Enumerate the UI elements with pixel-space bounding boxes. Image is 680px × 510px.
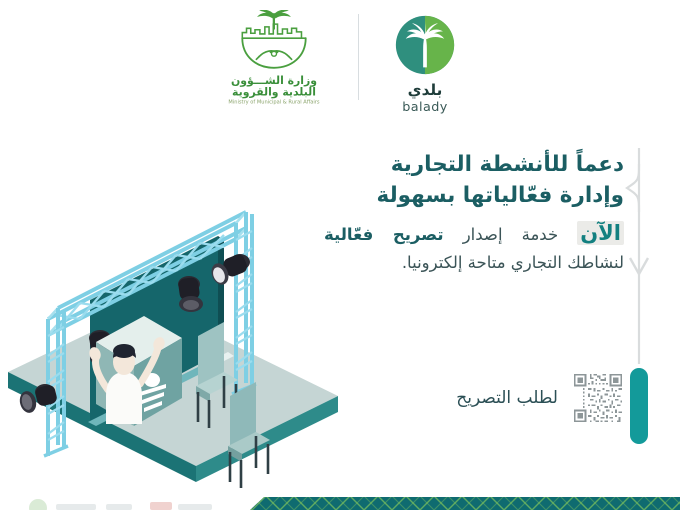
page-title: دعماً للأنشطة التجارية وإدارة فعّالياتها… <box>324 150 624 211</box>
spotlight <box>178 276 203 312</box>
cta-row[interactable]: لطلب التصريح <box>372 372 624 424</box>
rounded-pill-marker <box>630 368 648 444</box>
zigzag-chevron-pattern <box>250 497 680 510</box>
ministry-logo: وزارة الشـــؤون البلدية والقروية Ministr… <box>208 8 340 106</box>
logo-divider <box>358 14 359 100</box>
body-segment-1: خدمة إصدار <box>444 225 578 244</box>
ministry-wordmark: وزارة الشـــؤون البلدية والقروية Ministr… <box>210 73 338 106</box>
right-rail <box>617 146 651 446</box>
svg-text:بلدي: بلدي <box>407 81 442 100</box>
balady-palm-circle-logo-icon <box>394 14 456 76</box>
body-segment-emphasis: تصريح فعّالية <box>324 225 444 244</box>
main-text-panel: دعماً للأنشطة التجارية وإدارة فعّالياتها… <box>324 150 624 275</box>
headline-line-1: دعماً للأنشطة التجارية <box>324 150 624 181</box>
balady-wordmark: بلدي balady <box>377 80 473 115</box>
body-segment-3: لنشاطك التجاري متاحة إلكترونيا. <box>402 253 624 272</box>
ministry-palm-swords-skyline-logo-icon <box>228 10 320 72</box>
balady-logo: بلدي balady <box>377 8 473 115</box>
svg-text:البلدية والقروية: البلدية والقروية <box>232 85 316 98</box>
poster-canvas: بلدي balady <box>0 0 680 510</box>
isometric-event-stage-illustration <box>0 104 342 494</box>
headline-line-2: وإدارة فعّالياتها بسهولة <box>324 181 624 212</box>
body-paragraph: الآن خدمة إصدار تصريح فعّالية لنشاطك الت… <box>324 217 624 275</box>
svg-text:balady: balady <box>402 100 447 115</box>
header-logo-row: بلدي balady <box>0 8 680 116</box>
bottom-left-partial-content <box>10 490 260 510</box>
curly-brace-notch-icon <box>627 164 639 212</box>
cta-label[interactable]: لطلب التصريح <box>456 388 558 408</box>
